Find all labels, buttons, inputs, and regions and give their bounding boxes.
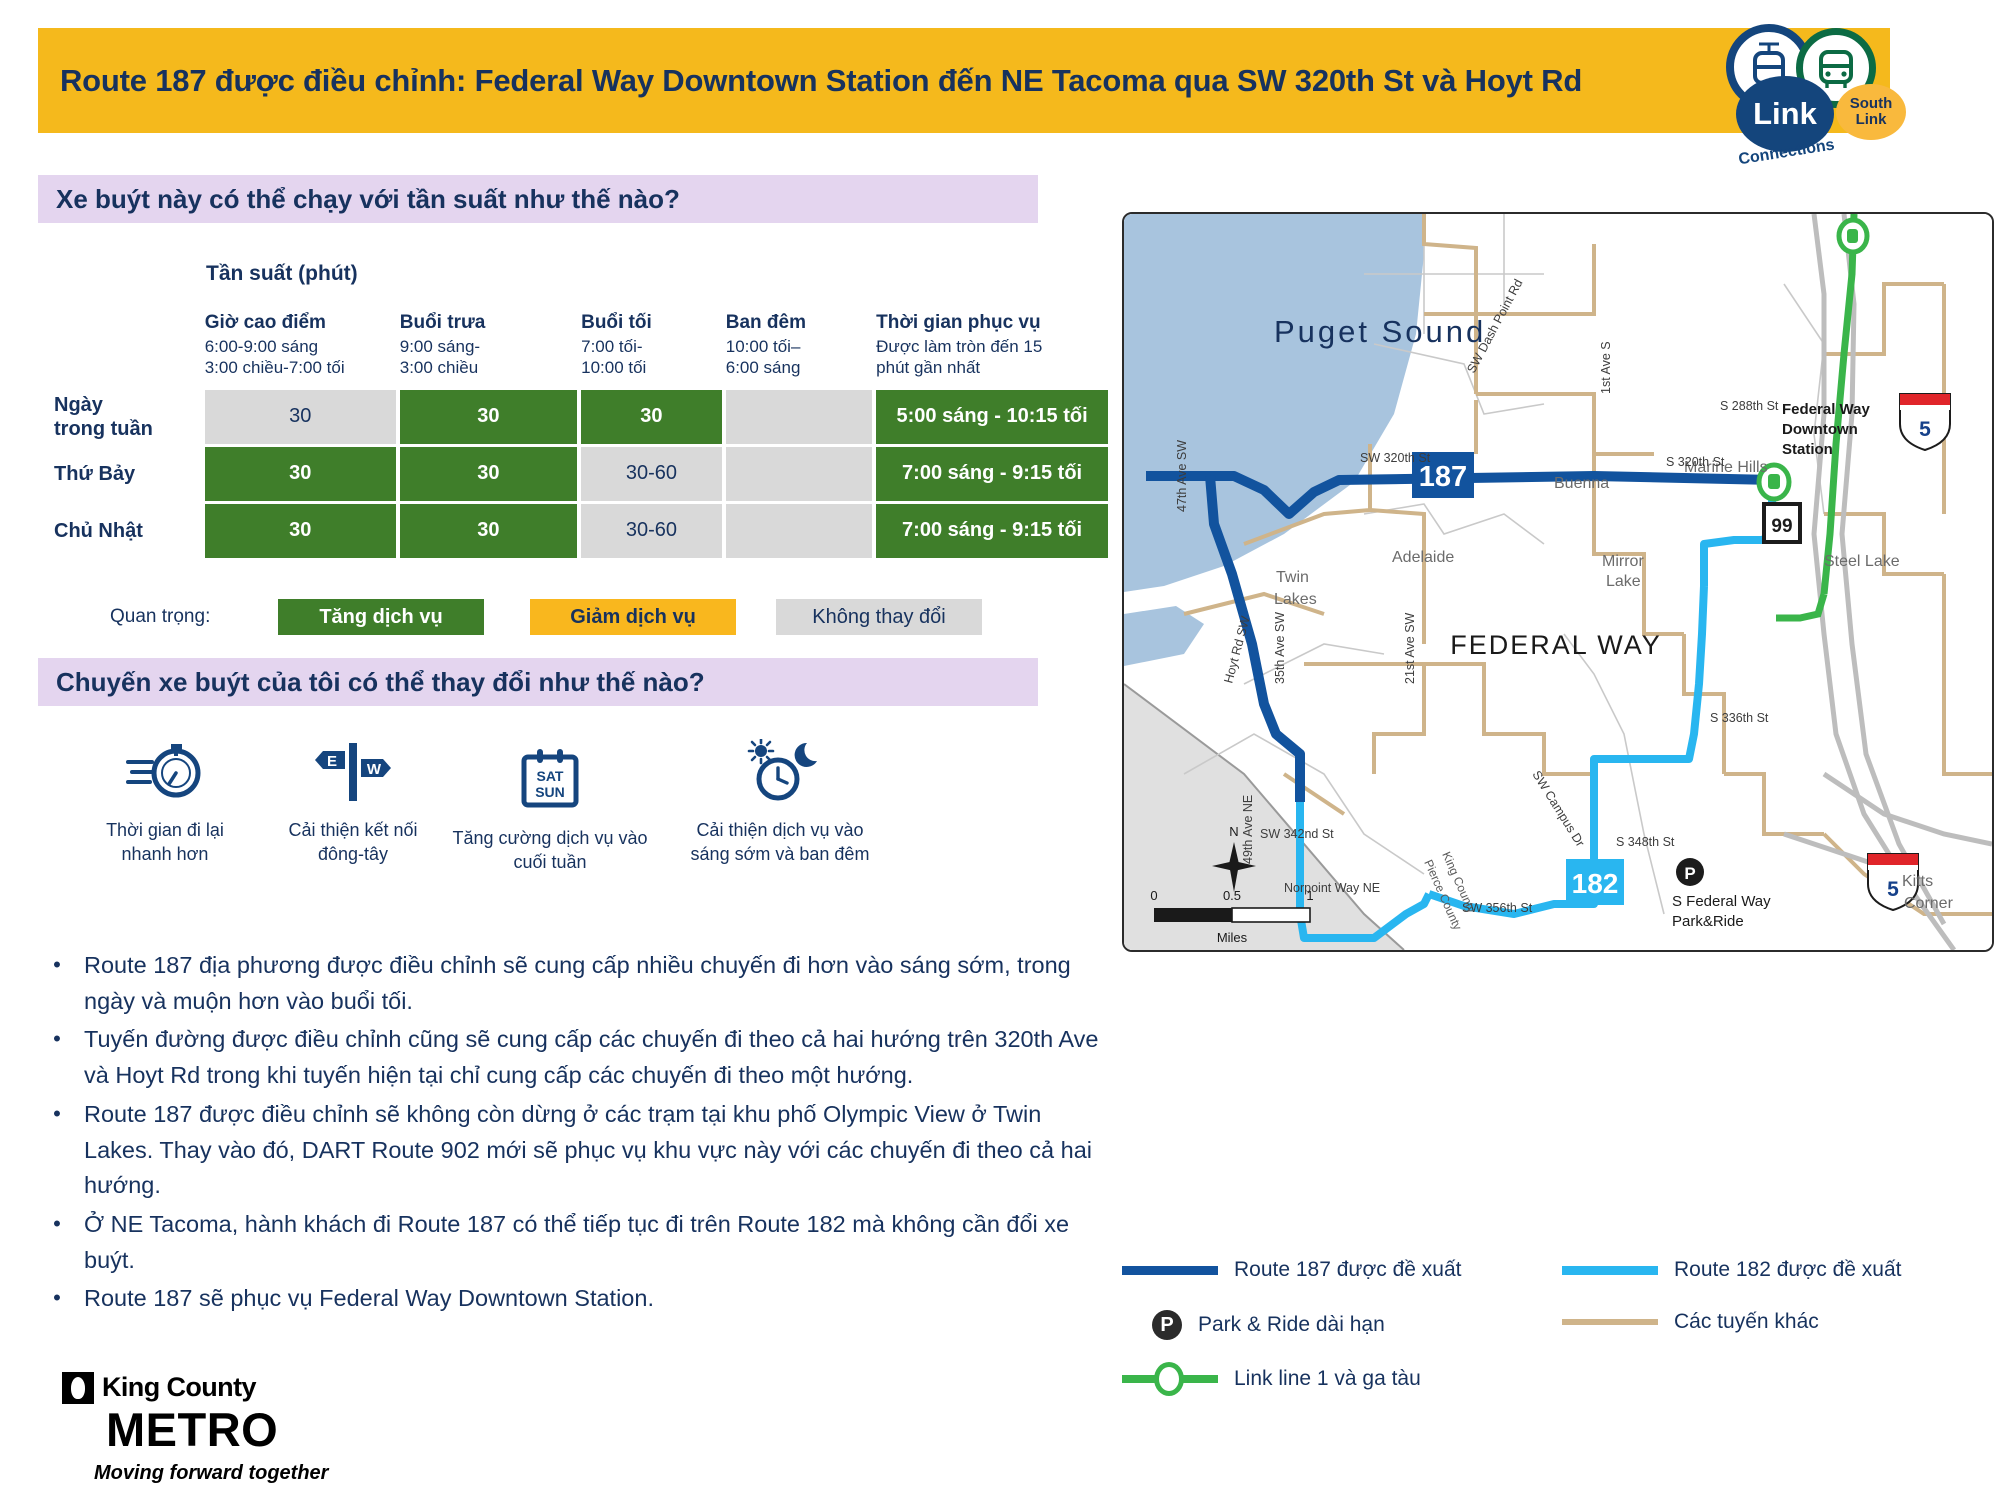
column-header-peak: Giờ cao điểm 6:00-9:00 sáng 3:00 chiều-7… xyxy=(205,311,396,387)
benefit-label-line1: Thời gian đi lại xyxy=(70,818,260,842)
column-header-span: Thời gian phục vụ Được làm tròn đến 15 p… xyxy=(876,311,1108,387)
map-legend: Route 187 được đề xuất P Park & Ride dài… xyxy=(1122,1250,2000,1400)
col-head-text: Buổi tối xyxy=(581,311,722,334)
svg-text:Norpoint Way NE: Norpoint Way NE xyxy=(1284,881,1380,895)
svg-text:1: 1 xyxy=(1306,888,1313,903)
column-header-midday: Buổi trưa 9:00 sáng- 3:00 chiều xyxy=(400,311,577,387)
bullet-text: Route 187 được điều chỉnh sẽ không còn d… xyxy=(84,1097,1100,1204)
bullet-text: Tuyến đường được điều chỉnh cũng sẽ cung… xyxy=(84,1022,1100,1093)
svg-text:Adelaide: Adelaide xyxy=(1392,549,1454,566)
route-182-swatch xyxy=(1562,1266,1658,1275)
svg-text:Federal Way: Federal Way xyxy=(1782,401,1870,418)
bullet-marker: • xyxy=(30,1207,84,1278)
benefit-label-line2: sáng sớm và ban đêm xyxy=(660,842,900,866)
stopwatch-speed-icon xyxy=(70,738,260,804)
key-chip-nochange: Không thay đổi xyxy=(776,599,982,635)
key-chip-decrease: Giảm dịch vụ xyxy=(530,599,736,635)
corner-cell xyxy=(54,311,201,387)
col-sub1: Được làm tròn đến 15 xyxy=(876,337,1042,356)
svg-text:Lake: Lake xyxy=(1606,573,1641,590)
col-head-text: Buổi trưa xyxy=(400,311,577,334)
key-chip-increase: Tăng dịch vụ xyxy=(278,599,484,635)
list-item: • Ở NE Tacoma, hành khách đi Route 187 c… xyxy=(30,1207,1100,1278)
svg-text:5: 5 xyxy=(1919,418,1931,441)
benefit-label-line1: Tăng cường dịch vụ vào xyxy=(440,826,660,850)
svg-text:0.5: 0.5 xyxy=(1223,888,1241,903)
changes-section-header: Chuyến xe buýt của tôi có thể thay đổi n… xyxy=(38,658,1038,706)
svg-text:P: P xyxy=(1684,864,1695,883)
svg-text:S Federal Way: S Federal Way xyxy=(1672,893,1771,910)
sun-moon-clock-icon xyxy=(660,738,900,804)
legend-label: Route 187 được đề xuất xyxy=(1234,1258,1461,1282)
bullet-marker: • xyxy=(30,1022,84,1093)
svg-text:Corner: Corner xyxy=(1904,895,1954,912)
sr99-shield: 99 xyxy=(1762,502,1802,544)
table-row: Chủ Nhật 30 30 30-60 7:00 sáng - 9:15 tố… xyxy=(54,504,1108,558)
col-sub1: 9:00 sáng- xyxy=(400,337,480,356)
king-county-label: King County xyxy=(102,1374,256,1401)
legend-label: Các tuyến khác xyxy=(1674,1310,1819,1334)
legend-park-and-ride: P Park & Ride dài hạn xyxy=(1122,1310,1385,1340)
benefit-label-line2: đông-tây xyxy=(258,842,448,866)
col-head-text: Ban đêm xyxy=(726,311,872,334)
king-county-metro-logo: King County METRO Moving forward togethe… xyxy=(62,1372,392,1485)
col-head-text: Giờ cao điểm xyxy=(205,311,396,334)
route-187-swatch xyxy=(1122,1266,1218,1275)
list-item: • Route 187 địa phương được điều chỉnh s… xyxy=(30,948,1100,1019)
bullet-marker: • xyxy=(30,1097,84,1204)
svg-text:47th Ave SW: 47th Ave SW xyxy=(1175,440,1189,512)
changes-section-title: Chuyến xe buýt của tôi có thể thay đổi n… xyxy=(38,667,705,698)
link-label: Link xyxy=(1753,96,1817,132)
header-banner: Route 187 được điều chỉnh: Federal Way D… xyxy=(38,28,1890,133)
row-label-sunday: Chủ Nhật xyxy=(54,504,201,558)
benefit-east-west-connections: E W Cải thiện kết nối đông-tây xyxy=(258,738,448,867)
king-county-crest-icon xyxy=(62,1372,94,1404)
svg-text:SW 320th St: SW 320th St xyxy=(1360,451,1431,465)
col-sub2: 3:00 chiều-7:00 tối xyxy=(205,358,345,377)
row-label-weekday: Ngày trong tuần xyxy=(54,390,201,444)
west-letter: W xyxy=(367,761,382,778)
link-station-icon xyxy=(1122,1362,1218,1396)
list-item: • Route 187 được điều chỉnh sẽ không còn… xyxy=(30,1097,1100,1204)
cell-sunday-midday: 30 xyxy=(400,504,577,558)
link-connections-logo: Link South Link Connections xyxy=(1718,14,1988,174)
col-head-text: Thời gian phục vụ xyxy=(876,311,1108,334)
col-sub2: phút gần nhất xyxy=(876,358,980,377)
svg-text:N: N xyxy=(1229,824,1238,839)
col-sub2: 3:00 chiều xyxy=(400,358,478,377)
legend-route-187: Route 187 được đề xuất xyxy=(1122,1258,1461,1282)
svg-text:35th Ave SW: 35th Ave SW xyxy=(1273,612,1287,684)
svg-text:S 336th St: S 336th St xyxy=(1710,711,1769,725)
benefit-faster-travel: Thời gian đi lại nhanh hơn xyxy=(70,738,260,867)
cell-saturday-midday: 30 xyxy=(400,447,577,501)
benefit-label-line2: cuối tuần xyxy=(440,850,660,874)
svg-text:21st Ave SW: 21st Ave SW xyxy=(1403,612,1417,684)
sun-label: SUN xyxy=(535,784,565,800)
benefit-early-late-service: Cải thiện dịch vụ vào sáng sớm và ban đê… xyxy=(660,738,900,867)
cell-weekday-peak: 30 xyxy=(205,390,396,444)
benefit-label-line2: nhanh hơn xyxy=(70,842,260,866)
i5-shield-north: 5 xyxy=(1900,394,1950,450)
legend-route-182: Route 182 được đề xuất xyxy=(1562,1258,1901,1282)
benefit-label-line1: Cải thiện kết nối xyxy=(258,818,448,842)
benefit-weekend-service: SAT SUN Tăng cường dịch vụ vào cuối tuần xyxy=(440,746,660,875)
svg-text:Mirror: Mirror xyxy=(1602,553,1644,570)
changes-bullet-list: • Route 187 địa phương được điều chỉnh s… xyxy=(30,948,1100,1320)
south-label: South xyxy=(1850,96,1893,112)
legend-label: Route 182 được đề xuất xyxy=(1674,1258,1901,1282)
svg-text:99: 99 xyxy=(1771,516,1792,537)
city-label: FEDERAL WAY xyxy=(1450,630,1662,660)
cell-saturday-span: 7:00 sáng - 9:15 tối xyxy=(876,447,1108,501)
cell-saturday-peak: 30 xyxy=(205,447,396,501)
svg-text:SW 342nd St: SW 342nd St xyxy=(1260,827,1334,841)
benefit-label-line1: Cải thiện dịch vụ vào xyxy=(660,818,900,842)
legend-label: Link line 1 và ga tàu xyxy=(1234,1367,1421,1391)
bullet-text: Route 187 sẽ phục vụ Federal Way Downtow… xyxy=(84,1281,654,1317)
bullet-marker: • xyxy=(30,1281,84,1317)
cell-sunday-span: 7:00 sáng - 9:15 tối xyxy=(876,504,1108,558)
frequency-key: Quan trọng: Tăng dịch vụ Giảm dịch vụ Kh… xyxy=(110,598,1050,636)
cell-saturday-evening: 30-60 xyxy=(581,447,722,501)
cell-sunday-peak: 30 xyxy=(205,504,396,558)
svg-text:Kitts: Kitts xyxy=(1902,873,1933,890)
svg-text:0: 0 xyxy=(1150,888,1157,903)
cell-weekday-midday: 30 xyxy=(400,390,577,444)
east-letter: E xyxy=(327,753,337,770)
bullet-text: Route 187 địa phương được điều chỉnh sẽ … xyxy=(84,948,1100,1019)
col-sub2: 10:00 tối xyxy=(581,358,646,377)
cell-weekday-evening: 30 xyxy=(581,390,722,444)
svg-text:49th Ave NE: 49th Ave NE xyxy=(1241,795,1255,864)
frequency-section-title: Xe buýt này có thể chạy với tần suất như… xyxy=(38,184,680,215)
svg-text:Downtown: Downtown xyxy=(1782,421,1858,438)
metro-tagline: Moving forward together xyxy=(94,1462,392,1485)
svg-text:S 288th St: S 288th St xyxy=(1720,399,1779,413)
benefit-icons-row: Thời gian đi lại nhanh hơn E W Cải thiện… xyxy=(60,738,1090,918)
metro-label: METRO xyxy=(106,1406,392,1453)
svg-text:187: 187 xyxy=(1419,461,1467,493)
page-root: Route 187 được điều chỉnh: Federal Way D… xyxy=(0,0,2000,1500)
route-map[interactable]: P 187 182 5 5 xyxy=(1122,212,1994,952)
svg-text:Park&Ride: Park&Ride xyxy=(1672,913,1744,930)
svg-text:Steel Lake: Steel Lake xyxy=(1824,553,1900,570)
row-label-line1: Ngày xyxy=(54,394,103,416)
list-item: • Tuyến đường được điều chỉnh cũng sẽ cu… xyxy=(30,1022,1100,1093)
page-title: Route 187 được điều chỉnh: Federal Way D… xyxy=(38,61,1582,101)
cell-sunday-night xyxy=(726,504,872,558)
park-ride-icon: P xyxy=(1152,1310,1182,1340)
bullet-marker: • xyxy=(30,948,84,1019)
legend-link-line: Link line 1 và ga tàu xyxy=(1122,1362,1421,1396)
legend-other-routes: Các tuyến khác xyxy=(1562,1310,1819,1334)
svg-text:5: 5 xyxy=(1887,878,1899,901)
column-header-evening: Buổi tối 7:00 tối- 10:00 tối xyxy=(581,311,722,387)
weekend-calendar-icon: SAT SUN xyxy=(440,746,660,812)
column-header-night: Ban đêm 10:00 tối– 6:00 sáng xyxy=(726,311,872,387)
svg-text:Miles: Miles xyxy=(1217,930,1248,945)
cell-weekday-span: 5:00 sáng - 10:15 tối xyxy=(876,390,1108,444)
cell-saturday-night xyxy=(726,447,872,501)
svg-text:1st Ave S: 1st Ave S xyxy=(1599,341,1613,394)
col-sub1: 10:00 tối– xyxy=(726,337,801,356)
svg-text:182: 182 xyxy=(1572,868,1619,899)
other-routes-swatch xyxy=(1562,1319,1658,1325)
col-sub1: 7:00 tối- xyxy=(581,337,642,356)
svg-text:Station: Station xyxy=(1782,441,1833,458)
south-link-badge: South Link xyxy=(1836,84,1906,140)
col-sub2: 6:00 sáng xyxy=(726,358,801,377)
table-row: Ngày trong tuần 30 30 30 5:00 sáng - 10:… xyxy=(54,390,1108,444)
east-west-signpost-icon: E W xyxy=(258,738,448,804)
row-label-saturday: Thứ Bảy xyxy=(54,447,201,501)
frequency-section-header: Xe buýt này có thể chạy với tần suất như… xyxy=(38,175,1038,223)
row-label-line2: trong tuần xyxy=(54,418,153,440)
route-182-badge: 182 xyxy=(1566,859,1624,905)
svg-text:Buenna: Buenna xyxy=(1554,475,1609,492)
key-label: Quan trọng: xyxy=(110,606,260,628)
frequency-units-label: Tần suất (phút) xyxy=(206,262,358,286)
north-link-station-marker xyxy=(1839,220,1867,252)
frequency-table: Giờ cao điểm 6:00-9:00 sáng 3:00 chiều-7… xyxy=(50,308,1112,561)
sat-label: SAT xyxy=(537,768,564,784)
water-label: Puget Sound xyxy=(1274,314,1486,349)
cell-weekday-night xyxy=(726,390,872,444)
south-link-label: Link xyxy=(1856,112,1887,128)
svg-text:S 348th St: S 348th St xyxy=(1616,835,1675,849)
svg-text:Lakes: Lakes xyxy=(1274,591,1317,608)
bullet-text: Ở NE Tacoma, hành khách đi Route 187 có … xyxy=(84,1207,1100,1278)
svg-text:Twin: Twin xyxy=(1276,569,1309,586)
cell-sunday-evening: 30-60 xyxy=(581,504,722,558)
table-header-row: Giờ cao điểm 6:00-9:00 sáng 3:00 chiều-7… xyxy=(54,311,1108,387)
park-and-ride-marker: P xyxy=(1676,858,1704,886)
svg-text:S 320th St: S 320th St xyxy=(1666,455,1725,469)
list-item: • Route 187 sẽ phục vụ Federal Way Downt… xyxy=(30,1281,1100,1317)
legend-label: Park & Ride dài hạn xyxy=(1198,1313,1385,1337)
col-sub1: 6:00-9:00 sáng xyxy=(205,337,318,356)
table-row: Thứ Bảy 30 30 30-60 7:00 sáng - 9:15 tối xyxy=(54,447,1108,501)
